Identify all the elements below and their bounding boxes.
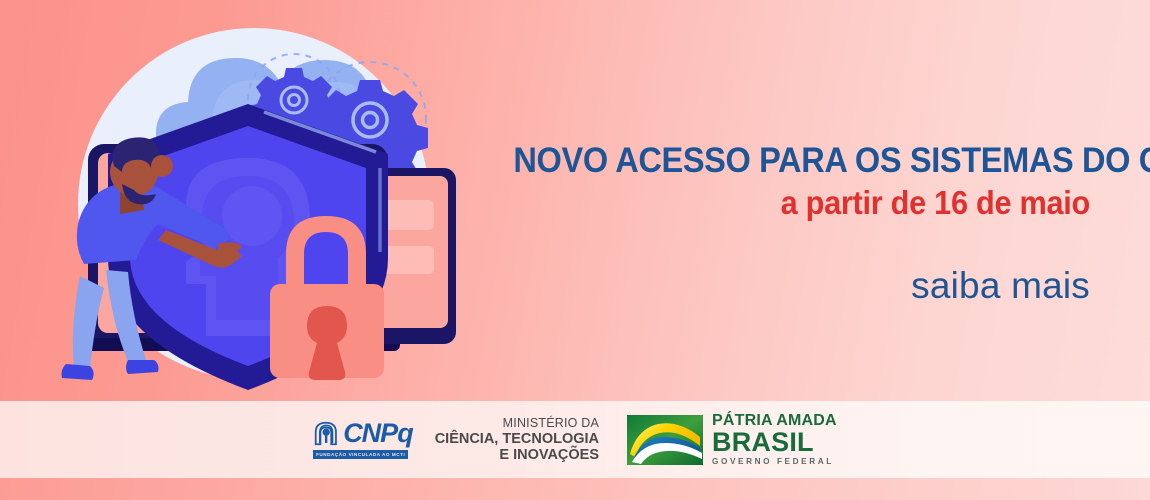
brasil-flag-emblem-icon bbox=[627, 415, 703, 465]
banner-footer-logos: CNPq FUNDAÇÃO VINCULADA AO MCTI MINISTÉR… bbox=[0, 401, 1150, 478]
person-upper-hand bbox=[151, 155, 173, 177]
cnpq-mark-icon bbox=[313, 420, 340, 447]
governo-federal-logo[interactable]: PÁTRIA AMADA BRASIL GOVERNO FEDERAL bbox=[627, 412, 837, 467]
cnpq-logo-main: CNPq bbox=[313, 420, 413, 447]
banner-hero-area: NOVO ACESSO PARA OS SISTEMAS DO CNPq a p… bbox=[0, 0, 1150, 401]
person-shoe-back bbox=[62, 364, 94, 380]
brasil-line-3: GOVERNO FEDERAL bbox=[712, 456, 837, 467]
cloud-security-shield-illustration bbox=[58, 8, 458, 400]
ministry-logo-text: MINISTÉRIO DA CIÊNCIA, TECNOLOGIA E INOV… bbox=[435, 416, 599, 463]
brasil-line-2: BRASIL bbox=[712, 429, 837, 456]
brasil-logo-text: PÁTRIA AMADA BRASIL GOVERNO FEDERAL bbox=[712, 412, 837, 467]
banner-copy-block: NOVO ACESSO PARA OS SISTEMAS DO CNPq a p… bbox=[470, 140, 1090, 306]
saiba-mais-link[interactable]: saiba mais bbox=[470, 266, 1090, 306]
person-shoe-front bbox=[126, 360, 159, 374]
banner-headline: NOVO ACESSO PARA OS SISTEMAS DO CNPq bbox=[513, 140, 1090, 182]
ministry-line-1: MINISTÉRIO DA bbox=[435, 416, 599, 431]
ministry-line-3: E INOVAÇÕES bbox=[435, 447, 599, 463]
ministry-line-2: CIÊNCIA, TECNOLOGIA bbox=[435, 431, 599, 447]
cnpq-tagline: FUNDAÇÃO VINCULADA AO MCTI bbox=[313, 450, 408, 460]
banner-subline: a partir de 16 de maio bbox=[513, 182, 1090, 224]
logo-row: CNPq FUNDAÇÃO VINCULADA AO MCTI MINISTÉR… bbox=[313, 412, 837, 467]
cnpq-logo[interactable]: CNPq FUNDAÇÃO VINCULADA AO MCTI bbox=[313, 420, 413, 460]
cnpq-wordmark: CNPq bbox=[343, 420, 413, 447]
cnpq-promo-banner: NOVO ACESSO PARA OS SISTEMAS DO CNPq a p… bbox=[0, 0, 1150, 500]
footer-bottom-strip bbox=[0, 478, 1150, 500]
